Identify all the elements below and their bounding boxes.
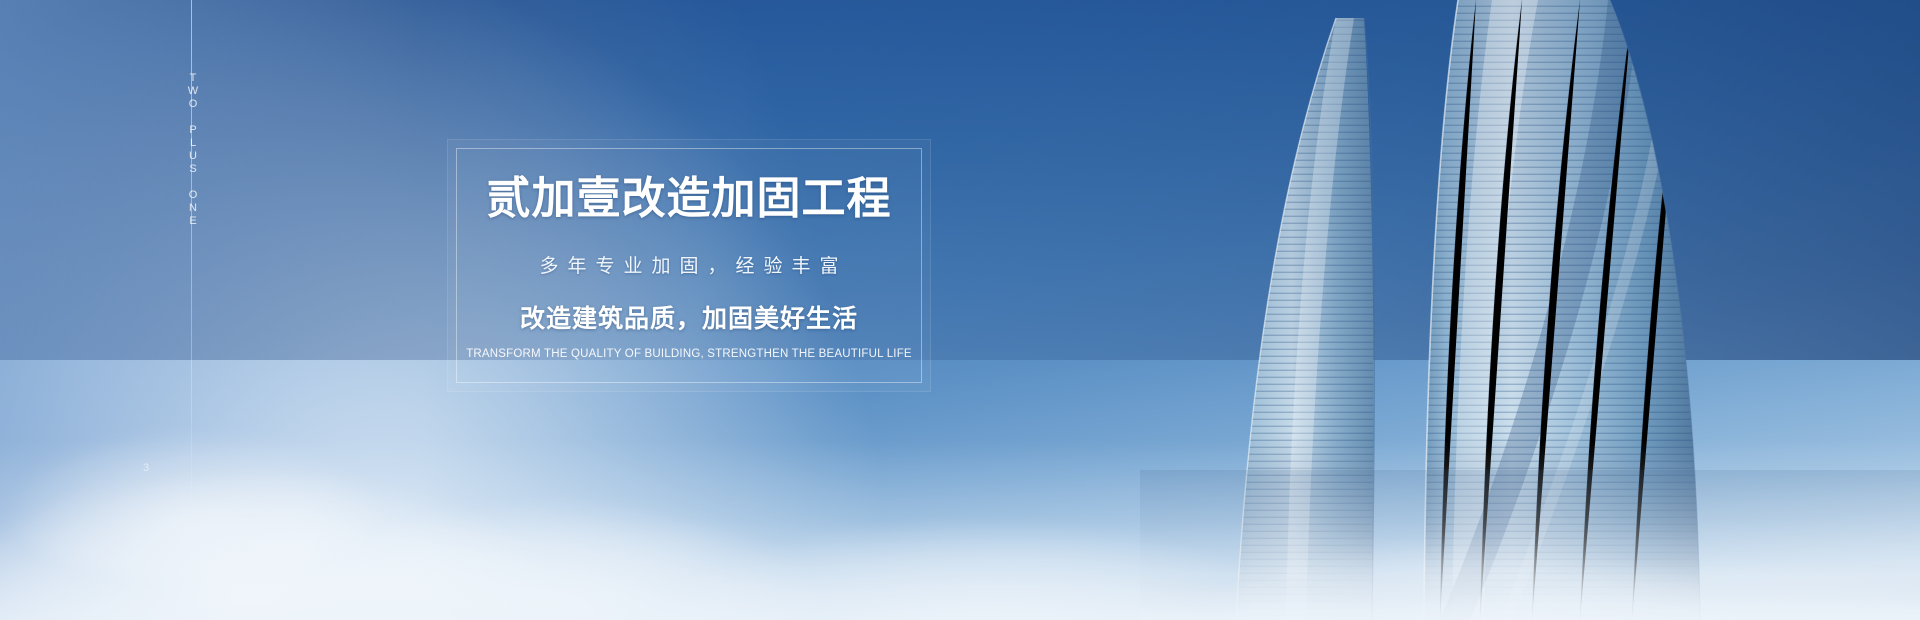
hero-headline: 贰加壹改造加固工程 <box>487 175 892 223</box>
hero-banner: TWO PLUS ONE 3 贰加壹改造加固工程 多年专业加固，经验丰富 改造建… <box>0 0 1920 620</box>
hero-slogan-english: TRANSFORM THE QUALITY OF BUILDING, STREN… <box>466 348 912 360</box>
hero-text-panel: 贰加壹改造加固工程 多年专业加固，经验丰富 改造建筑品质，加固美好生活 TRAN… <box>447 139 931 392</box>
hero-text-stack: 贰加壹改造加固工程 多年专业加固，经验丰富 改造建筑品质，加固美好生活 TRAN… <box>448 140 930 391</box>
hero-subheadline: 多年专业加固，经验丰富 <box>530 251 847 278</box>
brand-vertical-label: TWO PLUS ONE <box>176 72 208 228</box>
hero-slogan: 改造建筑品质，加固美好生活 <box>520 299 858 335</box>
bottom-haze <box>0 440 1920 620</box>
slide-number: 3 <box>140 462 152 475</box>
